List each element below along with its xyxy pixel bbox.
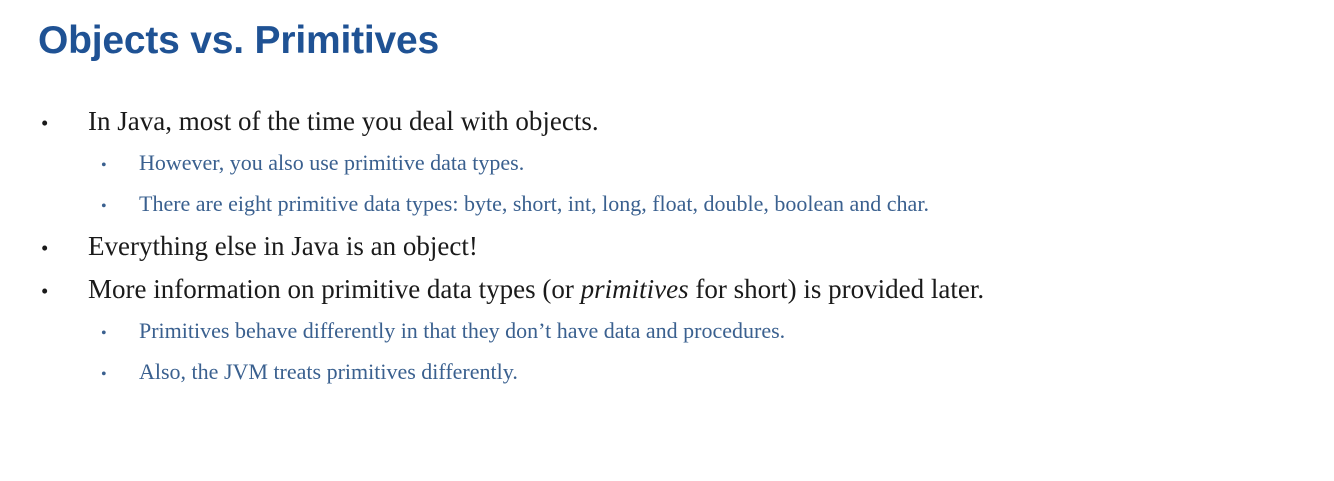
list-item-label: However, you also use primitive data typ… [139,144,1334,182]
list-item: • Primitives behave differently in that … [0,312,1334,353]
list-item: • However, you also use primitive data t… [0,144,1334,185]
list-item-label: There are eight primitive data types: by… [139,185,1334,223]
list-item-label: More information on primitive data types… [88,269,1334,310]
slide-canvas: Objects vs. Primitives • In Java, most o… [0,0,1334,481]
list-item-label: Primitives behave differently in that th… [139,312,1334,350]
bullet-marker-icon: • [101,315,139,353]
list-item: • More information on primitive data typ… [0,269,1334,312]
bullet-marker-icon: • [101,147,139,185]
list-item: • In Java, most of the time you deal wit… [0,101,1334,144]
bullet-marker-icon: • [41,228,88,269]
page-title: Objects vs. Primitives [38,18,439,64]
list-item: • Also, the JVM treats primitives differ… [0,353,1334,394]
bullet-marker-icon: • [101,188,139,226]
list-item-text-after: for short) is provided later. [689,274,984,304]
list-item-label: In Java, most of the time you deal with … [88,101,1334,142]
list-item-emphasis: primitives [581,274,689,304]
list-item-label: Also, the JVM treats primitives differen… [139,353,1334,391]
bullet-marker-icon: • [41,103,88,144]
bullet-marker-icon: • [41,271,88,312]
list-item-text-before: More information on primitive data types… [88,274,581,304]
bullet-list: • In Java, most of the time you deal wit… [0,101,1334,394]
list-item-label: Everything else in Java is an object! [88,226,1334,267]
list-item: • There are eight primitive data types: … [0,185,1334,226]
bullet-marker-icon: • [101,356,139,394]
list-item: • Everything else in Java is an object! [0,226,1334,269]
